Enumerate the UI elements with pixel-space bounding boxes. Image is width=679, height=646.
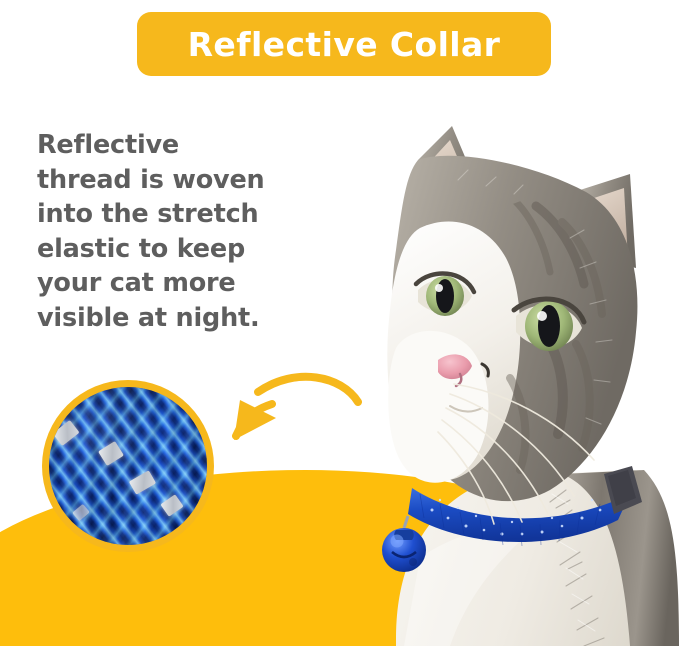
cat-head [387, 126, 637, 524]
infographic-canvas: Reflective thread is woven into the stre… [0, 0, 679, 646]
weave-rows [49, 387, 207, 545]
woven-fabric-macro [49, 387, 207, 545]
body-copy-line: thread is woven [37, 163, 299, 198]
title-banner: Reflective Collar [137, 12, 551, 76]
body-copy-line: into the stretch [37, 197, 299, 232]
body-copy: Reflective thread is woven into the stre… [37, 128, 299, 335]
curved-arrow-icon [210, 362, 370, 457]
body-copy-line: Reflective [37, 128, 299, 163]
body-copy-line: visible at night. [37, 301, 299, 336]
reflective-thread-detail-circle [42, 380, 214, 552]
cat-bell [382, 516, 426, 572]
body-copy-line: your cat more [37, 266, 299, 301]
body-copy-line: elastic to keep [37, 232, 299, 267]
page-title: Reflective Collar [188, 28, 501, 61]
